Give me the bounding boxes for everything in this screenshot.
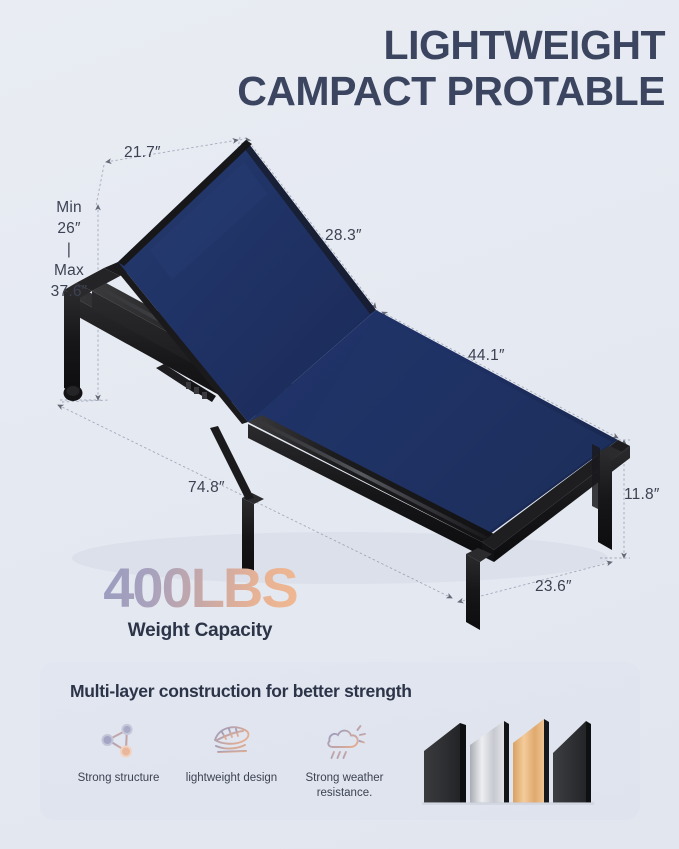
feature-lightweight-design: lightweight design bbox=[175, 714, 288, 801]
feature-list: Strong structure bbox=[62, 714, 402, 801]
feature-label: lightweight design bbox=[175, 771, 288, 786]
network-nodes-icon bbox=[62, 714, 175, 768]
feature-label: Strong weather resistance. bbox=[288, 771, 401, 801]
height-max-label: Max bbox=[54, 262, 84, 279]
feature-strong-structure: Strong structure bbox=[62, 714, 175, 801]
height-min-value: 26″ bbox=[57, 220, 80, 237]
height-separator: | bbox=[67, 241, 71, 258]
dimension-backrest-width: 21.7″ bbox=[124, 144, 161, 162]
features-panel-title: Multi-layer construction for better stre… bbox=[70, 681, 412, 702]
dimension-backrest-length: 28.3″ bbox=[325, 227, 362, 245]
height-min-label: Min bbox=[56, 199, 82, 216]
height-max-value: 37.6″ bbox=[51, 283, 88, 300]
weight-capacity-value: 400LBS bbox=[103, 560, 296, 616]
product-illustration bbox=[0, 110, 679, 630]
dimension-overall-width: 23.6″ bbox=[535, 578, 572, 596]
features-panel: Multi-layer construction for better stre… bbox=[40, 662, 640, 820]
infographic-root: LIGHTWEIGHT CAMPACT PROTABLE bbox=[0, 0, 679, 849]
dimension-seat-height: 11.8″ bbox=[624, 486, 660, 504]
page-title: LIGHTWEIGHT CAMPACT PROTABLE bbox=[237, 22, 665, 115]
dimension-seat-length: 44.1″ bbox=[468, 347, 505, 365]
headline-line-1: LIGHTWEIGHT bbox=[384, 22, 665, 68]
feature-label: Strong structure bbox=[62, 771, 175, 786]
dimension-height-min-max: Min 26″ | Max 37.6″ bbox=[38, 198, 100, 303]
feather-icon bbox=[175, 714, 288, 768]
weight-capacity-block: 400LBS Weight Capacity bbox=[0, 560, 400, 642]
layered-material-illustration bbox=[418, 695, 618, 813]
weight-capacity-caption: Weight Capacity bbox=[0, 620, 400, 642]
feature-weather-resistance: Strong weather resistance. bbox=[288, 714, 401, 801]
headline-line-2: CAMPACT PROTABLE bbox=[237, 68, 665, 114]
dimension-overall-length: 74.8″ bbox=[188, 479, 225, 497]
sun-cloud-rain-icon bbox=[288, 714, 401, 768]
